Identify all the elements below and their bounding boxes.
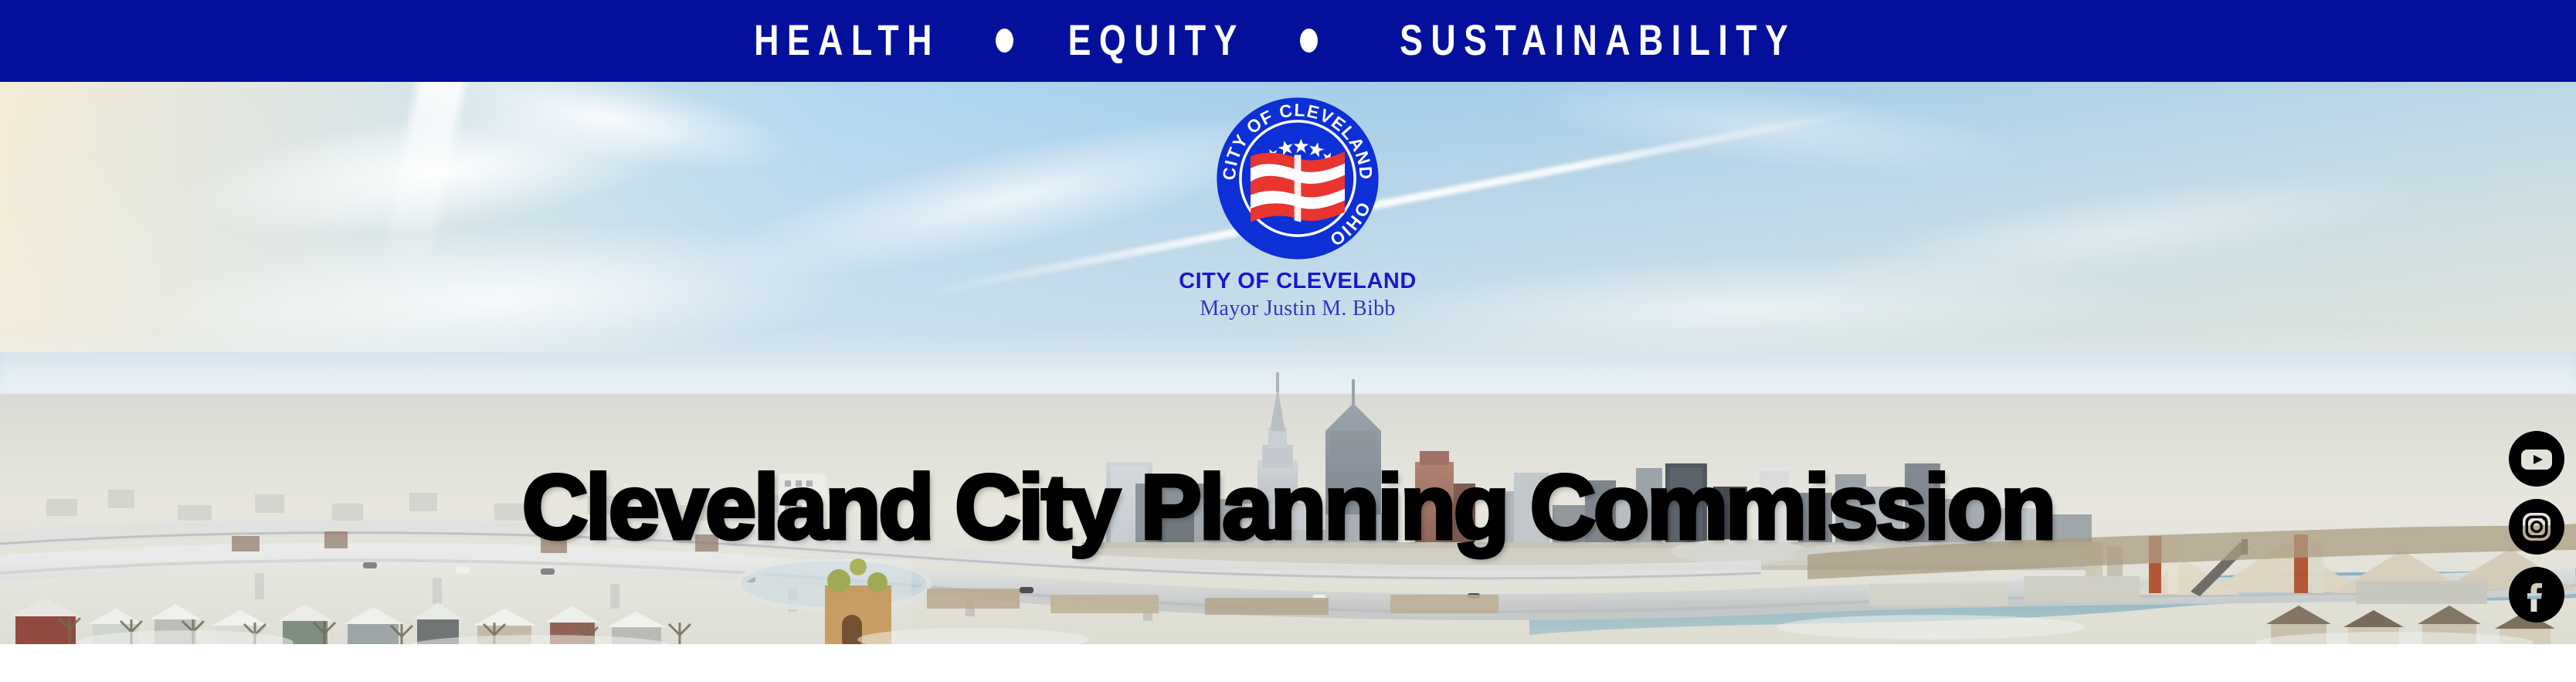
tagline-word-sustainability: SUSTAINABILITY bbox=[1400, 19, 1796, 62]
logo-title: CITY OF CLEVELAND bbox=[1159, 269, 1437, 294]
tagline-banner: HEALTH EQUITY SUSTAINABILITY bbox=[0, 0, 2576, 82]
social-links[interactable] bbox=[2509, 431, 2564, 623]
hero-banner-image: CITY OF CLEVELAND OHIO bbox=[0, 82, 2576, 644]
city-of-cleveland-seal-icon: CITY OF CLEVELAND OHIO bbox=[1213, 94, 1382, 263]
tagline-word-health: HEALTH bbox=[754, 19, 940, 62]
city-logo-block[interactable]: CITY OF CLEVELAND OHIO bbox=[1159, 94, 1437, 321]
page-root: HEALTH EQUITY SUSTAINABILITY bbox=[0, 0, 2576, 682]
logo-subtitle-mayor: Mayor Justin M. Bibb bbox=[1159, 297, 1437, 321]
dot-separator-icon bbox=[1300, 29, 1318, 53]
footer-whitespace bbox=[0, 644, 2576, 682]
instagram-icon[interactable] bbox=[2509, 499, 2564, 555]
page-title: Cleveland City Planning Commission bbox=[0, 462, 2576, 553]
facebook-icon[interactable] bbox=[2509, 567, 2564, 623]
dot-separator-icon bbox=[996, 29, 1013, 53]
youtube-icon[interactable] bbox=[2509, 431, 2564, 487]
tagline-word-equity: EQUITY bbox=[1068, 19, 1245, 62]
tagline-banner-inner: HEALTH EQUITY SUSTAINABILITY bbox=[731, 19, 1845, 62]
